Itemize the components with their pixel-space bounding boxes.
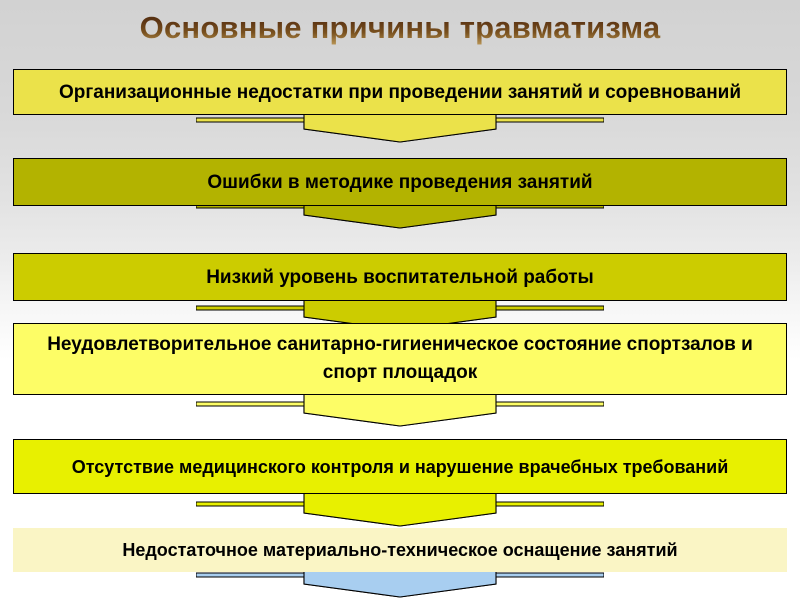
cause-box-5[interactable]: Отсутствие медицинского контроля и наруш… <box>13 439 787 494</box>
cause-box-3-label: Низкий уровень воспитательной работы <box>14 265 786 290</box>
cause-box-1-label: Организационные недостатки при проведени… <box>14 80 786 105</box>
flow-arrow-5 <box>196 488 604 528</box>
cause-box-4-label: Неудовлетворительное санитарно-гигиениче… <box>14 331 786 387</box>
cause-box-6[interactable]: Недостаточное материально-техническое ос… <box>13 528 787 572</box>
cause-box-2[interactable]: Ошибки в методике проведения занятий <box>13 158 787 206</box>
cause-box-3[interactable]: Низкий уровень воспитательной работы <box>13 253 787 301</box>
cause-box-2-label: Ошибки в методике проведения занятий <box>14 170 786 195</box>
page-title: Основные причины травматизма <box>0 8 800 48</box>
cause-box-4[interactable]: Неудовлетворительное санитарно-гигиениче… <box>13 323 787 395</box>
cause-box-1[interactable]: Организационные недостатки при проведени… <box>13 69 787 115</box>
slide-canvas: Основные причины травматизма <box>0 0 800 600</box>
cause-box-5-label: Отсутствие медицинского контроля и наруш… <box>14 454 786 480</box>
cause-box-6-label: Недостаточное материально-техническое ос… <box>13 538 787 562</box>
